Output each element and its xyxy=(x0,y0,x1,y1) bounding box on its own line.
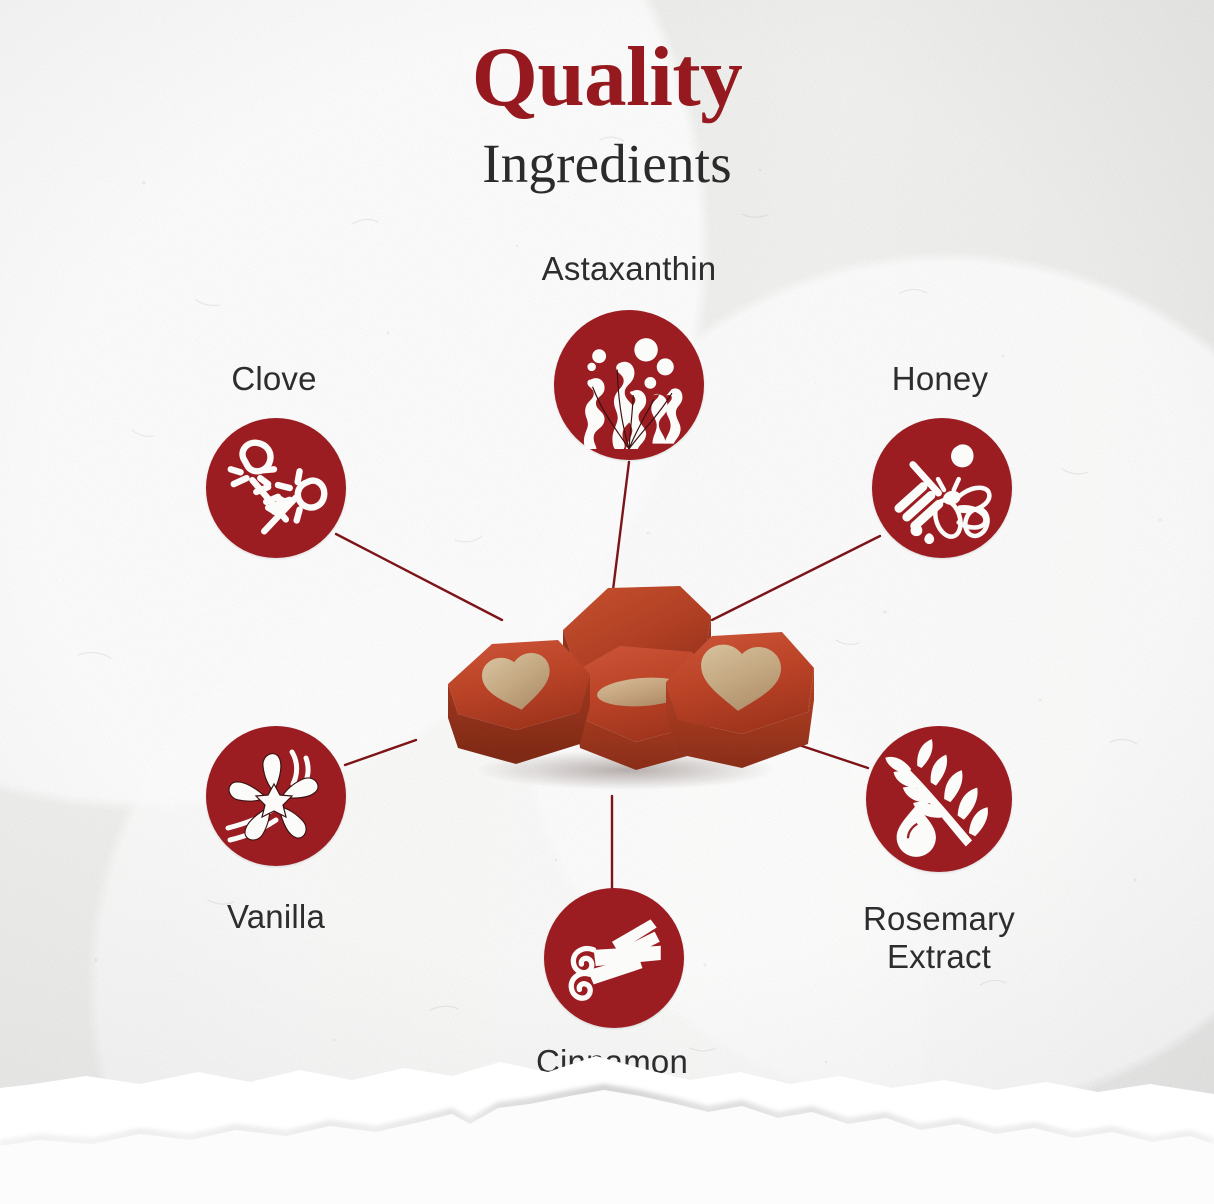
clove-bud-icon-glyph xyxy=(217,429,335,547)
algae-icon-glyph xyxy=(565,321,693,449)
ingredient-label-honey: Honey xyxy=(790,360,1090,398)
page-subtitle: Ingredients xyxy=(0,135,1214,193)
page-title: Quality xyxy=(0,34,1214,121)
clove-bud-icon[interactable] xyxy=(206,418,346,558)
ingredient-label-clove: Clove xyxy=(124,360,424,398)
heading-block: Quality Ingredients xyxy=(0,34,1214,192)
product-chews-image xyxy=(430,572,820,792)
algae-icon[interactable] xyxy=(554,310,704,460)
ingredient-label-rosemary-extract: Rosemary Extract xyxy=(789,900,1089,977)
ingredient-label-cinnamon: Cinnamon xyxy=(462,1043,762,1081)
cinnamon-sticks-icon-glyph xyxy=(553,897,675,1019)
honey-dipper-bee-icon[interactable] xyxy=(872,418,1012,558)
rosemary-sprig-droplet-icon-glyph xyxy=(877,737,1001,861)
rosemary-sprig-droplet-icon[interactable] xyxy=(866,726,1012,872)
ingredients-infographic: Quality Ingredients xyxy=(0,0,1214,1204)
vanilla-flower-icon[interactable] xyxy=(206,726,346,866)
ingredient-label-vanilla: Vanilla xyxy=(126,898,426,936)
vanilla-flower-icon-glyph xyxy=(216,736,336,856)
honey-dipper-bee-icon-glyph xyxy=(883,429,1001,547)
ingredient-label-astaxanthin: Astaxanthin xyxy=(479,250,779,288)
cinnamon-sticks-icon[interactable] xyxy=(544,888,684,1028)
chew-left xyxy=(448,640,590,764)
